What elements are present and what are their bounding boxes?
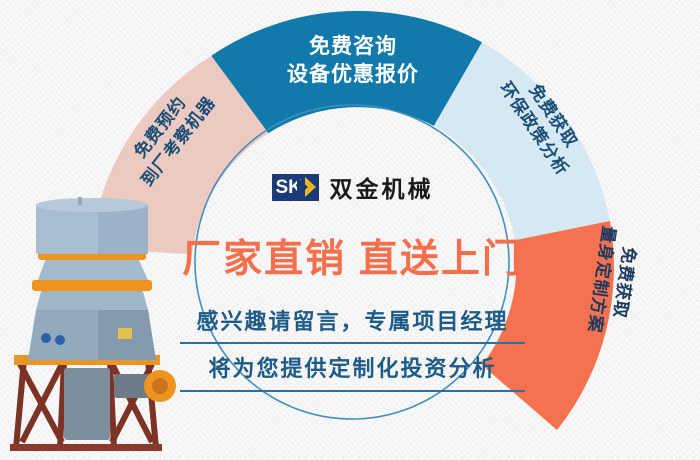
machine-top-lug [78, 197, 82, 205]
machine-flange-band [32, 280, 152, 291]
subtitle-divider-2 [180, 390, 525, 392]
brand-logo: SK 双金机械 [180, 172, 525, 202]
machine-mid-cone [36, 288, 148, 310]
headline-text: 厂家直销 直送上门 [180, 228, 525, 284]
subtitle-divider-1 [180, 342, 525, 344]
machine-upper-shoulder [38, 258, 148, 280]
logo-chevron-navy-icon [297, 177, 308, 197]
subtitle-line-2: 将为您提供定制化投资分析 [180, 351, 525, 387]
machine-pulley-hub [152, 378, 168, 394]
machine-nameplate [118, 328, 132, 339]
sk-logo-mark: SK [272, 174, 319, 201]
machine-decal [55, 335, 65, 345]
machine-decal [41, 333, 51, 343]
arc-label-line: 免费咨询 [273, 33, 433, 61]
machine-base-beam [10, 444, 162, 451]
subtitle-line-1: 感兴趣请留言，专属项目经理 [180, 304, 525, 340]
arc-label-free-consultation: 免费咨询 设备优惠报价 [273, 33, 433, 90]
cone-crusher-machine-image [2, 192, 182, 454]
center-content: SK 双金机械 厂家直销 直送上门 感兴趣请留言，专属项目经理 将为您提供定制化… [180, 172, 525, 392]
arc-label-line: 设备优惠报价 [273, 61, 433, 89]
machine-top-rim [36, 198, 148, 212]
brand-name: 双金机械 [330, 170, 434, 204]
machine-drive-housing [64, 368, 110, 440]
promo-banner: 免费预约 到厂考察机器 免费咨询 设备优惠报价 免费获取 环保政策分析 免费获取… [0, 0, 700, 460]
